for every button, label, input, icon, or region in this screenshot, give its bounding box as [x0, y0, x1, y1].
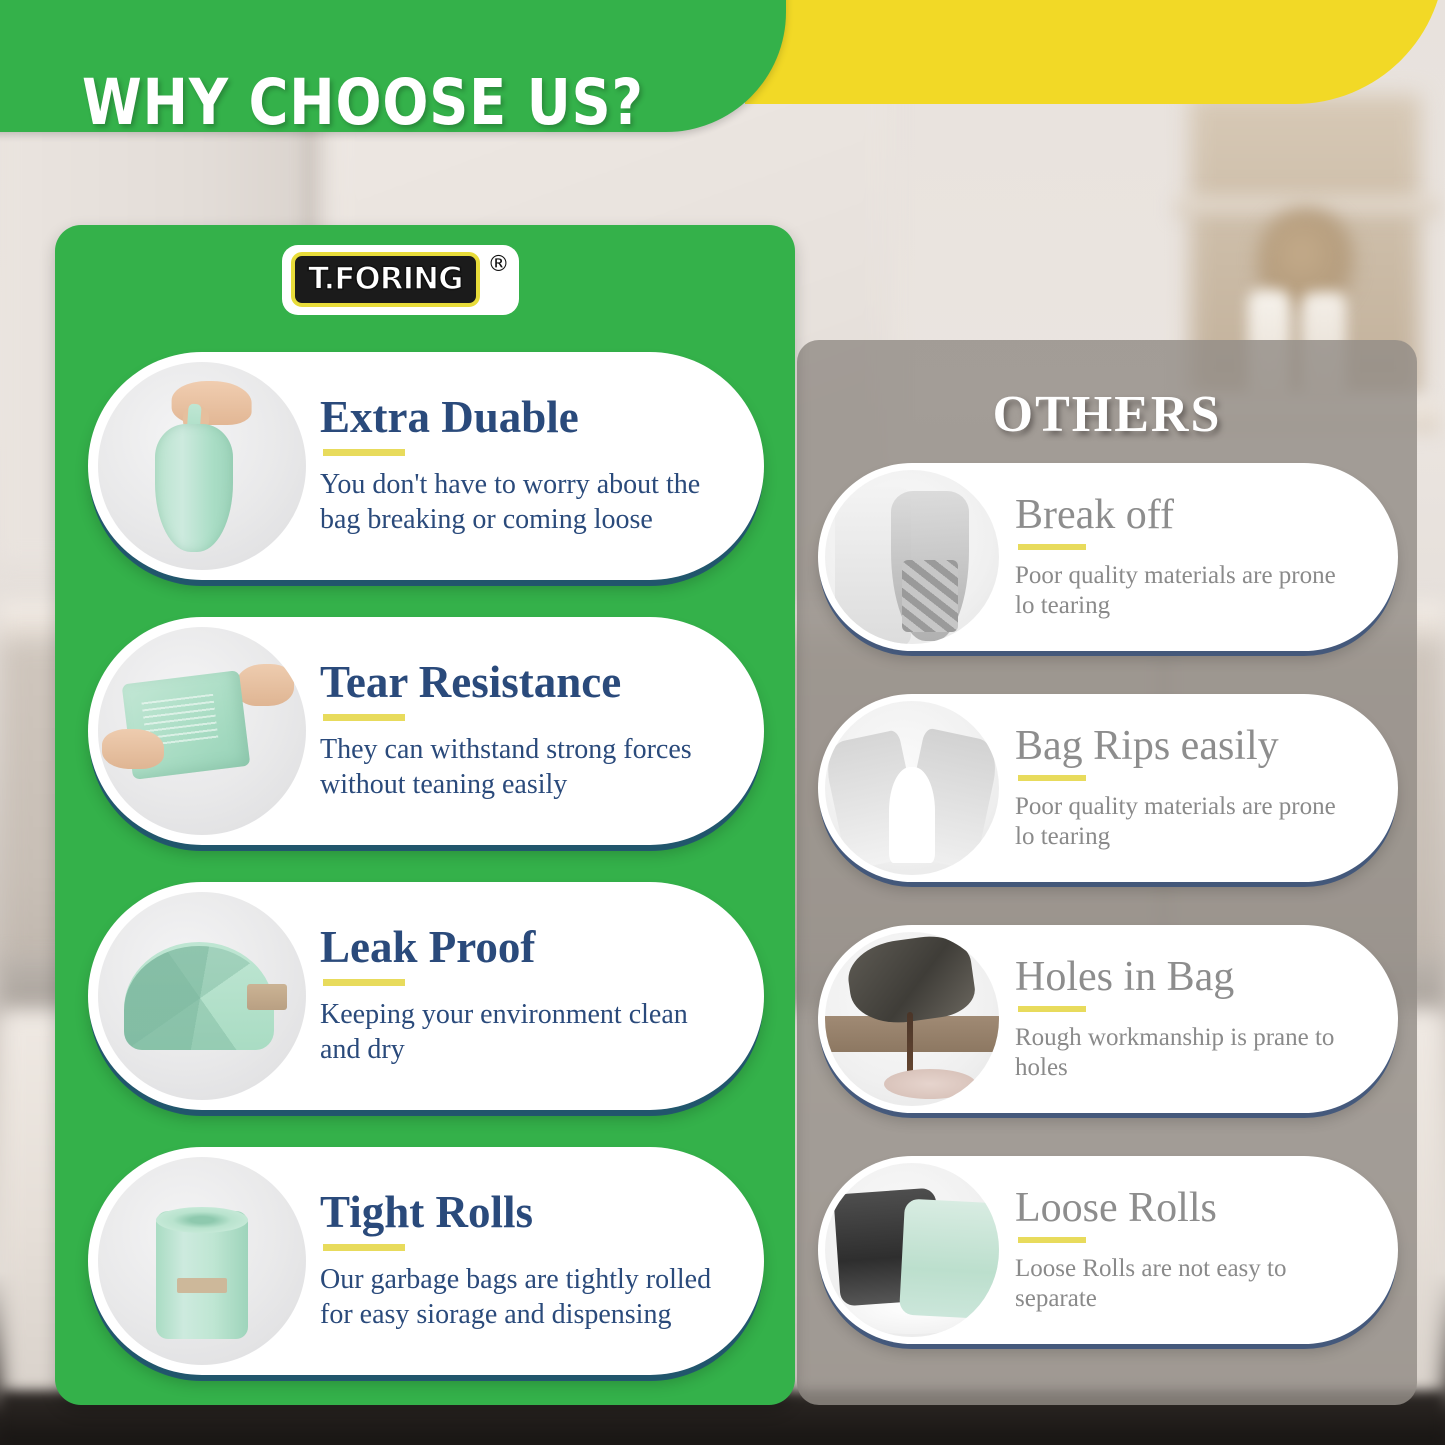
drawback-text: Break off Poor quality materials are pro… [1015, 494, 1365, 621]
drawback-text: Bag Rips easily Poor quality materials a… [1015, 725, 1365, 852]
feature-underline [323, 1244, 405, 1251]
drawback-text: Holes in Bag Rough workmanship is prane … [1015, 956, 1365, 1083]
feature-body: Our garbage bags are tightly rolled for … [320, 1263, 732, 1331]
drawback-card[interactable]: Break off Poor quality materials are pro… [818, 463, 1398, 651]
feature-image-stretching-bag [98, 627, 306, 835]
drawback-underline [1018, 1006, 1086, 1012]
feature-body: Keeping your environment clean and dry [320, 998, 732, 1066]
drawback-body: Loose Rolls are not easy to separate [1015, 1254, 1345, 1314]
feature-text: Tear Resistance They can withstand stron… [320, 660, 754, 801]
brand-logo: T.FORING ® [282, 245, 519, 315]
feature-text: Tight Rolls Our garbage bags are tightly… [320, 1190, 754, 1331]
page-title: WHY CHOOSE US? [82, 66, 644, 139]
registered-trademark-icon: ® [488, 252, 510, 277]
feature-card[interactable]: Tear Resistance They can withstand stron… [88, 617, 764, 845]
feature-underline [323, 979, 405, 986]
wooden-handle-icon [247, 984, 287, 1010]
drawback-image-leaking-bag [825, 932, 999, 1106]
drawback-image-ripping-bag [825, 701, 999, 875]
drawback-card[interactable]: Holes in Bag Rough workmanship is prane … [818, 925, 1398, 1113]
bag-contents-icon [902, 560, 958, 632]
drawback-image-loose-rolls [825, 1163, 999, 1337]
feature-text: Leak Proof Keeping your environment clea… [320, 925, 754, 1066]
drawback-body: Rough workmanship is prane to holes [1015, 1023, 1345, 1083]
drawback-image-carrying-torn-bag [825, 470, 999, 644]
roll-label-icon [177, 1278, 227, 1293]
feature-image-hand-holding-bag [98, 362, 306, 570]
drawback-underline [1018, 1237, 1086, 1243]
feature-card[interactable]: Leak Proof Keeping your environment clea… [88, 882, 764, 1110]
others-title: OTHERS [797, 385, 1417, 444]
feature-title: Leak Proof [320, 925, 732, 970]
brand-logo-pill: T.FORING [291, 252, 480, 307]
feature-text: Extra Duable You don't have to worry abo… [320, 395, 754, 536]
feature-image-bag-roll [98, 1157, 306, 1365]
drawback-underline [1018, 544, 1086, 550]
drawback-card[interactable]: Bag Rips easily Poor quality materials a… [818, 694, 1398, 882]
header-yellow-accent [745, 0, 1445, 104]
feature-image-leak-test [98, 892, 306, 1100]
puddle-icon [884, 1069, 976, 1099]
roll-top-icon [156, 1207, 248, 1233]
feature-title: Extra Duable [320, 395, 732, 440]
drawback-text: Loose Rolls Loose Rolls are not easy to … [1015, 1187, 1365, 1314]
drawback-title: Holes in Bag [1015, 956, 1345, 998]
drawback-card[interactable]: Loose Rolls Loose Rolls are not easy to … [818, 1156, 1398, 1344]
drawback-title: Loose Rolls [1015, 1187, 1345, 1229]
hand-right-icon [236, 664, 294, 706]
feature-underline [323, 714, 405, 721]
tear-gap-icon [889, 767, 935, 863]
drawback-body: Poor quality materials are prone lo tear… [1015, 792, 1345, 852]
feature-card[interactable]: Tight Rolls Our garbage bags are tightly… [88, 1147, 764, 1375]
feature-body: They can withstand strong forces without… [320, 733, 732, 801]
green-bag-icon [155, 424, 233, 552]
feature-card[interactable]: Extra Duable You don't have to worry abo… [88, 352, 764, 580]
hand-left-icon [102, 729, 164, 769]
feature-title: Tear Resistance [320, 660, 732, 705]
drawback-underline [1018, 775, 1086, 781]
feature-title: Tight Rolls [320, 1190, 732, 1235]
drawback-body: Poor quality materials are prone lo tear… [1015, 561, 1345, 621]
brand-logo-text: T.FORING [308, 261, 463, 297]
feature-body: You don't have to worry about the bag br… [320, 468, 732, 536]
brand-logo-halo: T.FORING ® [282, 245, 519, 315]
green-roll-loose-icon [899, 1199, 999, 1320]
feature-underline [323, 449, 405, 456]
drawback-title: Break off [1015, 494, 1345, 536]
drawback-title: Bag Rips easily [1015, 725, 1345, 767]
